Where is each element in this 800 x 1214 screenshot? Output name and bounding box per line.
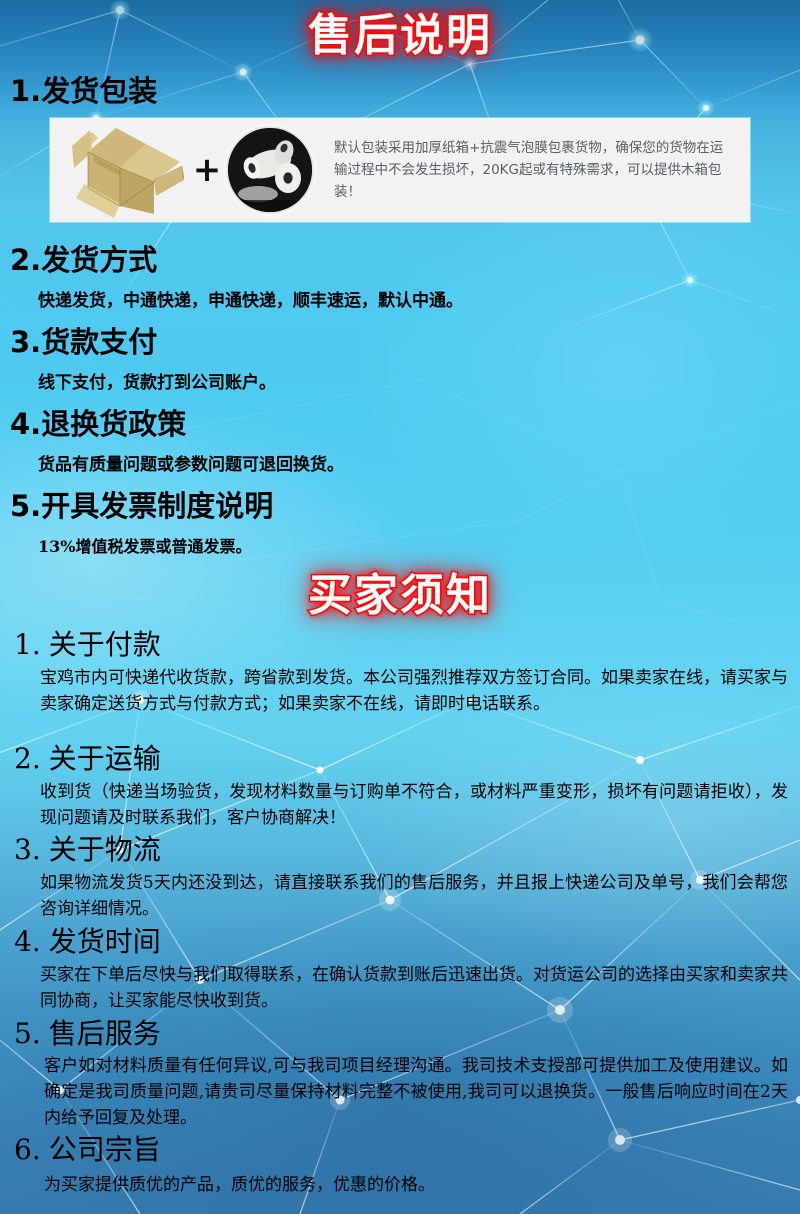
item-number: 1. (14, 628, 41, 661)
cardboard-box-icon (58, 118, 186, 222)
heading-shipping-packaging: 1.发货包装 (10, 74, 157, 108)
packaging-description: 默认包装采用加厚纸箱+抗震气泡膜包裹货物，确保您的货物在运输过程中不会发生损坏，… (334, 137, 736, 203)
heading-about-transport: 2.关于运输 (14, 742, 161, 775)
heading-return-policy: 4.退换货政策 (10, 407, 186, 441)
body-return-policy: 货品有质量问题或参数问题可退回换货。 (38, 452, 344, 478)
heading-about-logistics: 3.关于物流 (14, 833, 161, 866)
item-number: 3. (14, 833, 41, 866)
heading-about-payment: 1.关于付款 (14, 628, 161, 661)
buyer-notice-banner-title: 买家须知 (0, 568, 800, 624)
body-shipping-method: 快递发货，中通快递，申通快递，顺丰速运，默认中通。 (38, 288, 463, 314)
heading-invoice: 5.开具发票制度说明 (10, 489, 273, 523)
item-heading-text: 发货时间 (49, 925, 161, 958)
body-about-payment: 宝鸡市内可快递代收货款，跨省款到发货。本公司强烈推荐双方签订合同。如果卖家在线，… (40, 665, 788, 717)
item-number: 6. (14, 1133, 41, 1166)
body-payment: 线下支付，货款打到公司账户。 (38, 370, 276, 396)
heading-shipping-time: 4.发货时间 (14, 925, 161, 958)
body-shipping-time: 买家在下单后尽快与我们取得联系，在确认货款到账后迅速出货。对货运公司的选择由买家… (40, 962, 788, 1014)
item-number: 5. (14, 1017, 41, 1050)
foam-wrap-photo (228, 128, 312, 212)
item-number: 2. (14, 742, 41, 775)
after-sale-banner-title: 售后说明 (0, 8, 800, 64)
item-heading-text: 售后服务 (49, 1017, 161, 1050)
body-company-purpose: 为买家提供质优的产品，质优的服务，优惠的价格。 (44, 1172, 792, 1198)
item-heading-text: 关于物流 (49, 833, 161, 866)
item-heading-text: 关于运输 (49, 742, 161, 775)
body-about-transport: 收到货（快递当场验货，发现材料数量与订购单不符合，或材料严重变形，损坏有问题请拒… (40, 779, 788, 831)
packaging-info-panel: + 默认包装采用加厚纸箱+抗震气泡膜包裹货物，确保您的货物在运输过程中不会发生损… (50, 118, 750, 222)
heading-shipping-method: 2.发货方式 (10, 243, 157, 277)
product-detail-page: 售后说明 1.发货包装 (0, 0, 800, 1214)
heading-after-sale-service: 5.售后服务 (14, 1017, 161, 1050)
body-about-logistics: 如果物流发货5天内还没到达，请直接联系我们的售后服务，并且报上快递公司及单号，我… (40, 870, 788, 922)
heading-company-purpose: 6.公司宗旨 (14, 1133, 161, 1166)
heading-payment: 3.货款支付 (10, 325, 157, 359)
body-after-sale-service: 客户如对材料质量有任何异议,可与我司项目经理沟通。我司技术支授部可提供加工及使用… (44, 1053, 788, 1131)
item-heading-text: 关于付款 (49, 628, 161, 661)
item-number: 4. (14, 925, 41, 958)
item-heading-text: 公司宗旨 (49, 1133, 161, 1166)
plus-icon: + (186, 153, 228, 187)
body-invoice: 13%增值税发票或普通发票。 (38, 534, 251, 560)
